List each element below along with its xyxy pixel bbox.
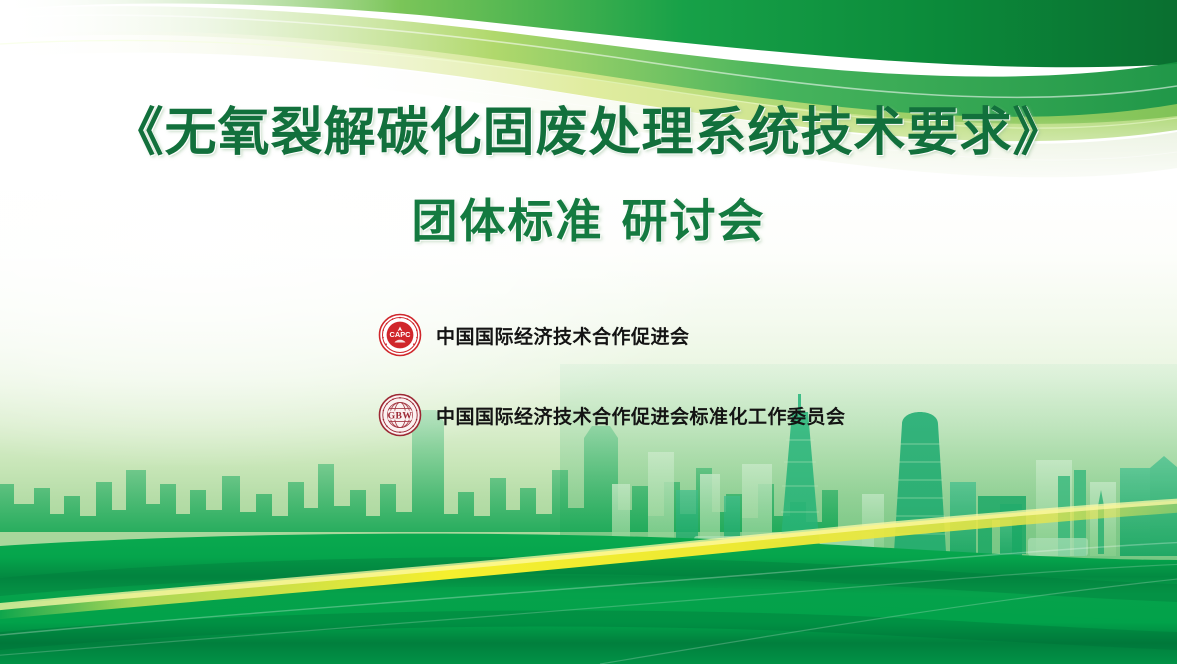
gbw-seal-logo: GBW xyxy=(378,393,422,437)
gbw-logo-text: GBW xyxy=(388,410,413,421)
organization-row-gbw: GBW 中国国际经济技术合作促进会标准化工作委员会 xyxy=(378,386,1138,444)
green-wave-ribbon-top xyxy=(0,0,1177,190)
organization-row-capc: CAPC 中国国际经济技术合作促进会 xyxy=(378,306,1138,364)
organization-name-gbw: 中国国际经济技术合作促进会标准化工作委员会 xyxy=(436,402,846,429)
capc-logo-text: CAPC xyxy=(390,330,412,339)
organization-list: CAPC 中国国际经济技术合作促进会 xyxy=(378,306,1138,466)
capc-seal-logo: CAPC xyxy=(378,313,422,357)
title-slide: 《无氧裂解碳化固废处理系统技术要求》 团体标准 研讨会 xyxy=(0,0,1177,664)
organization-name-capc: 中国国际经济技术合作促进会 xyxy=(436,322,690,349)
